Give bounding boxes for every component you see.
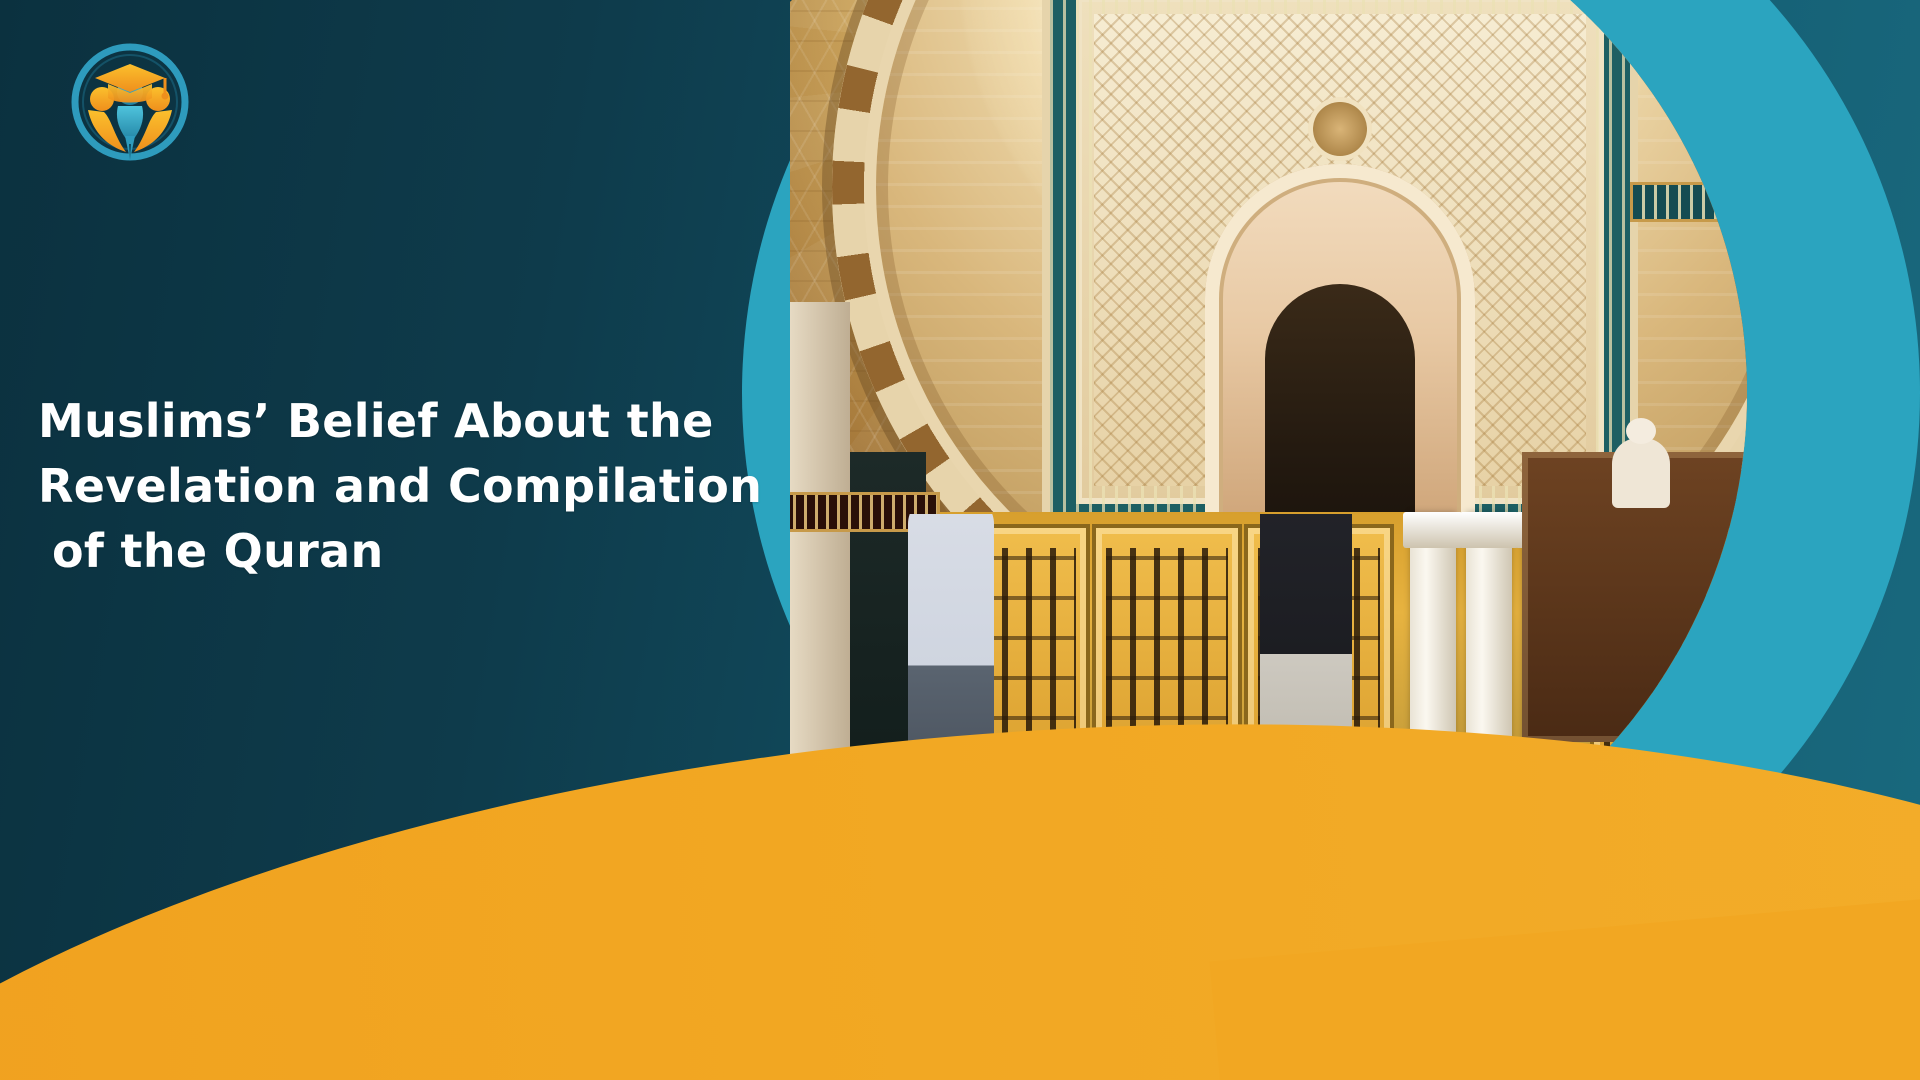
mihrab-medallion bbox=[1313, 102, 1367, 156]
title-line-3: of the Quran bbox=[38, 519, 798, 584]
title-line-1: Muslims’ Belief About the bbox=[38, 389, 798, 454]
title-line-2: Revelation and Compilation bbox=[38, 454, 798, 519]
slide-canvas: Muslims’ Belief About the Revelation and… bbox=[0, 0, 1920, 1080]
brand-logo[interactable] bbox=[68, 40, 192, 164]
preacher-figure bbox=[1612, 438, 1670, 508]
graduation-people-pen-icon bbox=[68, 40, 192, 164]
mihrab-calligraphy-frame bbox=[1050, 0, 1630, 530]
page-title: Muslims’ Belief About the Revelation and… bbox=[38, 389, 798, 585]
mihrab-arabesque-panel bbox=[1094, 14, 1586, 486]
